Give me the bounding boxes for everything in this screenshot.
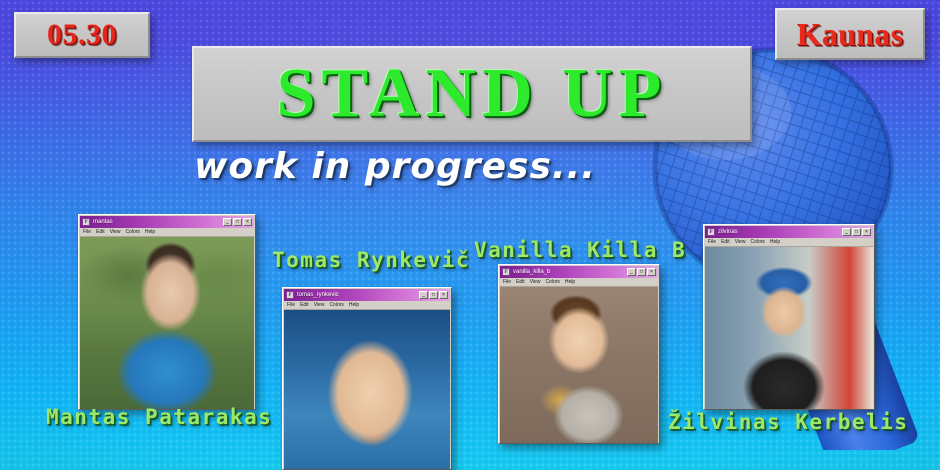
paint-window-icon: P xyxy=(286,291,294,299)
menu-item-edit[interactable]: Edit xyxy=(96,229,105,236)
window-controls[interactable]: _ □ × xyxy=(842,228,871,236)
paint-window-icon: P xyxy=(707,228,715,236)
minimize-button[interactable]: _ xyxy=(627,268,636,276)
menu-item-file[interactable]: File xyxy=(287,302,295,309)
title-plaque: STAND UP xyxy=(192,46,752,142)
menu-item-file[interactable]: File xyxy=(708,239,716,246)
performer-name-vanilla-killa-b: Vanilla Killa B xyxy=(474,238,686,262)
menu-item-edit[interactable]: Edit xyxy=(516,279,525,286)
window-controls[interactable]: _ □ × xyxy=(627,268,656,276)
menu-item-colors[interactable]: Colors xyxy=(750,239,764,246)
close-button[interactable]: × xyxy=(439,291,448,299)
minimize-button[interactable]: _ xyxy=(419,291,428,299)
performer-photo-vanilla-killa-b xyxy=(500,287,658,444)
menu-item-file[interactable]: File xyxy=(83,229,91,236)
performer-name-zilvinas: Žilvinas Kerbelis xyxy=(668,410,908,434)
subtitle: work in progress... xyxy=(0,146,790,187)
window-title: mantas xyxy=(93,218,220,226)
performer-photo-mantas xyxy=(80,237,254,410)
performer-name-tomas: Tomas Rynkevič xyxy=(272,248,470,272)
menu-item-view[interactable]: View xyxy=(530,279,541,286)
menu-item-view[interactable]: View xyxy=(314,302,325,309)
performer-photo-zilvinas xyxy=(705,247,873,410)
window-controls[interactable]: _ □ × xyxy=(419,291,448,299)
menu-item-help[interactable]: Help xyxy=(349,302,359,309)
city-badge: Kaunas xyxy=(775,8,925,60)
close-button[interactable]: × xyxy=(243,218,252,226)
maximize-button[interactable]: □ xyxy=(637,268,646,276)
window-title: zilvinas xyxy=(718,228,839,236)
photo-window-vanilla-killa-b[interactable]: P vanilla_killa_b _ □ × File Edit View C… xyxy=(498,264,660,444)
window-titlebar[interactable]: P vanilla_killa_b _ □ × xyxy=(500,266,658,278)
window-menubar[interactable]: File Edit View Colors Help xyxy=(705,238,873,247)
menu-item-file[interactable]: File xyxy=(503,279,511,286)
menu-item-view[interactable]: View xyxy=(110,229,121,236)
menu-item-help[interactable]: Help xyxy=(565,279,575,286)
menu-item-help[interactable]: Help xyxy=(145,229,155,236)
maximize-button[interactable]: □ xyxy=(233,218,242,226)
performer-name-mantas: Mantas Patarakas xyxy=(46,405,272,429)
window-titlebar[interactable]: P mantas _ □ × xyxy=(80,216,254,228)
menu-item-edit[interactable]: Edit xyxy=(721,239,730,246)
window-menubar[interactable]: File Edit View Colors Help xyxy=(284,301,450,310)
menu-item-colors[interactable]: Colors xyxy=(545,279,559,286)
city-badge-label: Kaunas xyxy=(797,16,904,53)
window-controls[interactable]: _ □ × xyxy=(223,218,252,226)
minimize-button[interactable]: _ xyxy=(223,218,232,226)
photo-window-mantas[interactable]: P mantas _ □ × File Edit View Colors Hel… xyxy=(78,214,256,410)
maximize-button[interactable]: □ xyxy=(852,228,861,236)
close-button[interactable]: × xyxy=(647,268,656,276)
window-titlebar[interactable]: P zilvinas _ □ × xyxy=(705,226,873,238)
photo-window-tomas[interactable]: P tomas_rynkevic _ □ × File Edit View Co… xyxy=(282,287,452,470)
date-badge-label: 05.30 xyxy=(47,18,117,52)
window-titlebar[interactable]: P tomas_rynkevic _ □ × xyxy=(284,289,450,301)
window-title: vanilla_killa_b xyxy=(513,268,624,276)
window-menubar[interactable]: File Edit View Colors Help xyxy=(500,278,658,287)
menu-item-view[interactable]: View xyxy=(735,239,746,246)
paint-window-icon: P xyxy=(502,268,510,276)
close-button[interactable]: × xyxy=(862,228,871,236)
photo-window-zilvinas[interactable]: P zilvinas _ □ × File Edit View Colors H… xyxy=(703,224,875,410)
date-badge: 05.30 xyxy=(14,12,150,58)
menu-item-colors[interactable]: Colors xyxy=(329,302,343,309)
window-menubar[interactable]: File Edit View Colors Help xyxy=(80,228,254,237)
minimize-button[interactable]: _ xyxy=(842,228,851,236)
window-title: tomas_rynkevic xyxy=(297,291,416,299)
menu-item-edit[interactable]: Edit xyxy=(300,302,309,309)
page-title: STAND UP xyxy=(277,59,668,129)
menu-item-colors[interactable]: Colors xyxy=(125,229,139,236)
performer-photo-tomas xyxy=(284,310,450,470)
maximize-button[interactable]: □ xyxy=(429,291,438,299)
paint-window-icon: P xyxy=(82,218,90,226)
poster-canvas: 05.30 Kaunas STAND UP work in progress..… xyxy=(0,0,940,470)
menu-item-help[interactable]: Help xyxy=(770,239,780,246)
